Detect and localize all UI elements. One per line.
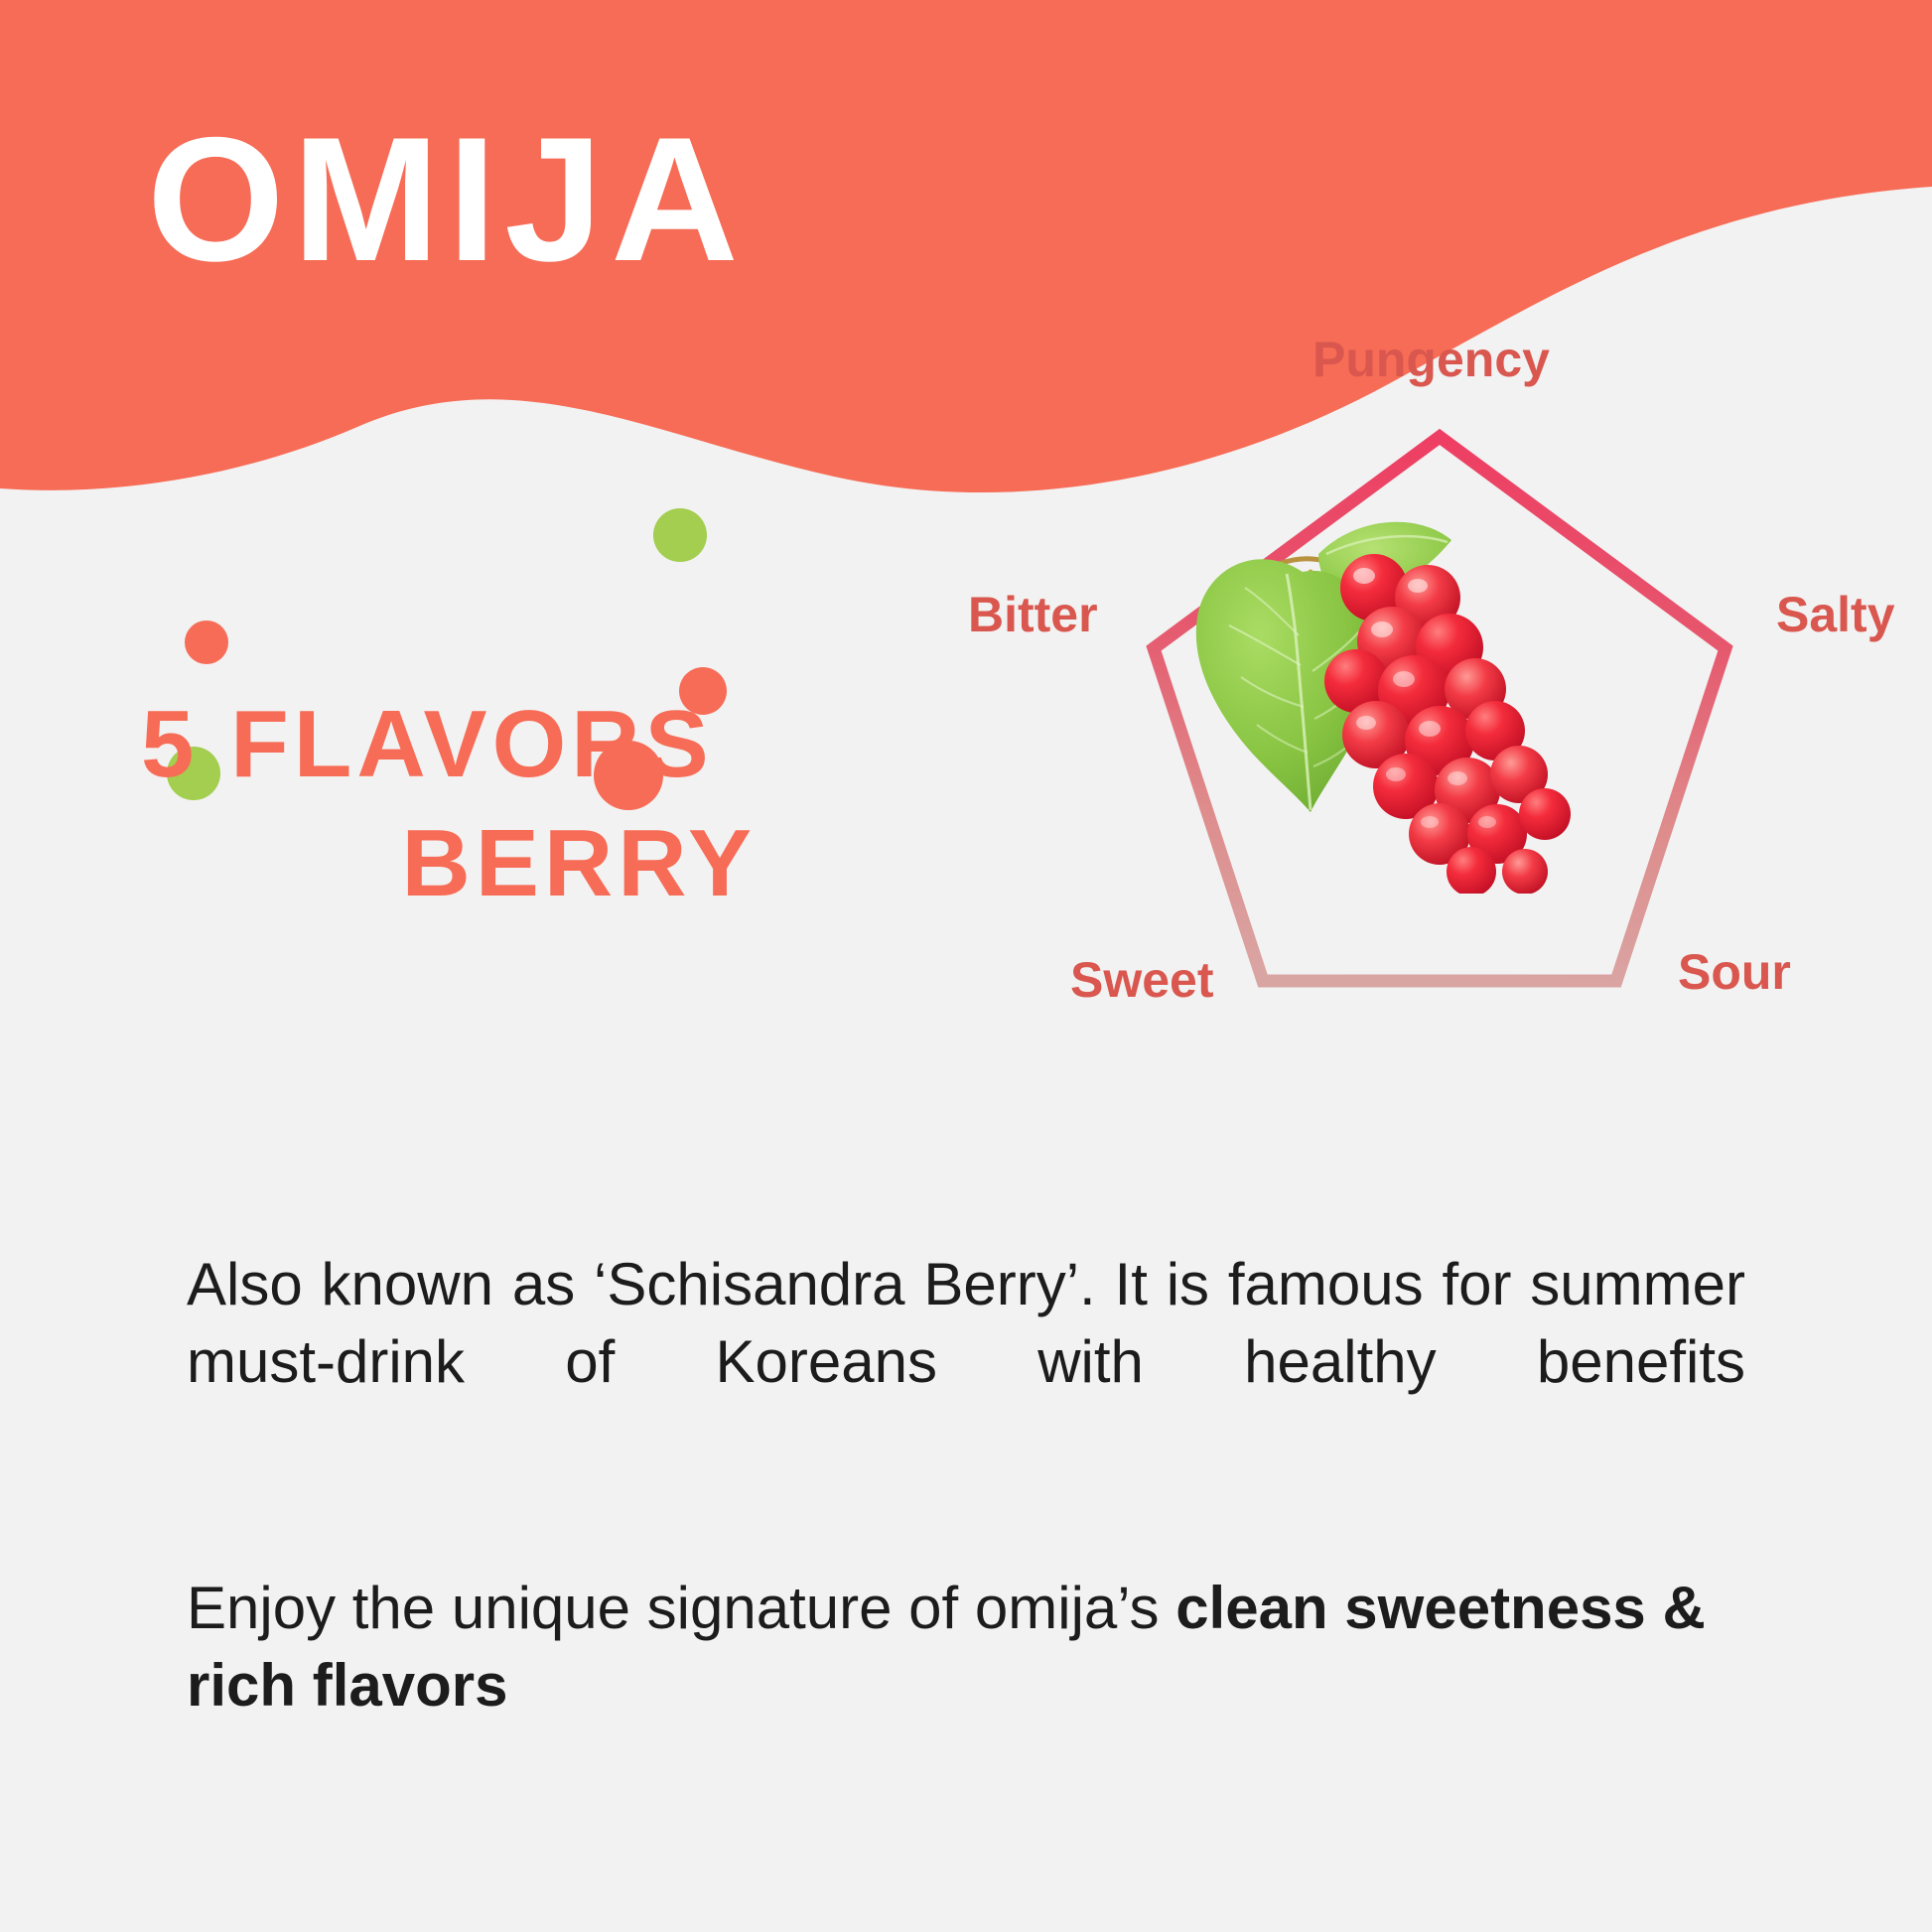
dot-orange-small-top-left (185, 621, 228, 664)
flavor-label-sweet: Sweet (1070, 955, 1214, 1005)
body-paragraph-2: Enjoy the unique signature of omija’s cl… (187, 1570, 1745, 1725)
infographic-poster: OMIJA 5 FLAVORS BERRY (0, 0, 1932, 1932)
schisandra-berry-image (1162, 477, 1588, 894)
body-copy: Also known as ‘Schisandra Berry’. It is … (187, 1246, 1745, 1725)
body-paragraph-1: Also known as ‘Schisandra Berry’. It is … (187, 1246, 1745, 1478)
flavor-label-sour: Sour (1678, 947, 1791, 997)
flavors-headline: 5 FLAVORS BERRY (119, 685, 814, 923)
flavors-headline-line-2: BERRY (119, 804, 814, 923)
body-paragraph-2-lead: Enjoy the unique signature of omija’s (187, 1575, 1175, 1641)
flavor-label-pungency: Pungency (1312, 335, 1550, 384)
flavors-headline-line-1: 5 FLAVORS (119, 685, 814, 804)
flavor-label-salty: Salty (1776, 590, 1895, 639)
flavor-label-bitter: Bitter (968, 590, 1098, 639)
dot-green-top-right (653, 508, 707, 562)
page-title: OMIJA (147, 111, 747, 288)
